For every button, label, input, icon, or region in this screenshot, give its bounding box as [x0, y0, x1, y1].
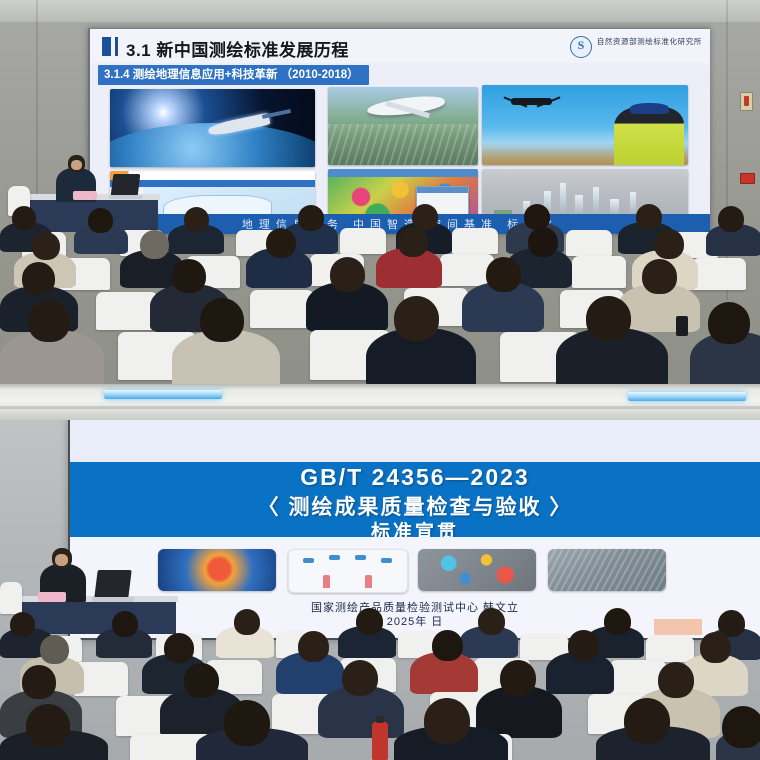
audience-head — [26, 704, 70, 748]
header-accent-block-icon — [102, 37, 111, 56]
chair-back — [692, 258, 746, 290]
audience-head — [184, 663, 219, 698]
thumbnail-classified-imagery — [418, 549, 536, 591]
presenter-laptop-lid-lower — [94, 570, 131, 598]
audience-head — [200, 298, 244, 342]
chair-back — [96, 292, 158, 330]
ground-station-icon — [323, 575, 330, 588]
drone-operator-figure — [614, 107, 684, 165]
audience-head — [224, 700, 270, 746]
slide-image-aircraft — [328, 87, 478, 165]
pink-folder-lower — [38, 592, 66, 602]
ceiling-strip-upper — [0, 0, 760, 22]
audience-head — [642, 259, 677, 294]
audience-head — [40, 635, 69, 664]
slide2-top-band — [70, 418, 760, 462]
projection-screen-upper: 3.1 新中国测绘标准发展历程 自然资源部测绘标准化研究所 3.1.4 测绘地理… — [88, 28, 710, 234]
audience-head — [478, 608, 505, 635]
chair-back — [566, 230, 612, 256]
audience-head — [12, 206, 36, 230]
audience-head — [330, 257, 365, 292]
operator-cap-icon — [630, 103, 669, 114]
audience-head — [32, 232, 60, 260]
building-block — [593, 187, 599, 217]
red-thermos-bottle — [372, 722, 388, 760]
aerial-cityscape — [328, 124, 478, 165]
slide-header-title: 3.1 新中国测绘标准发展历程 — [126, 36, 349, 61]
audience-head — [586, 296, 631, 341]
presenter-chair-lower — [0, 582, 22, 614]
satellite-node-icon — [355, 555, 366, 560]
audience-head — [298, 631, 329, 662]
audience-head — [412, 204, 438, 230]
ground-station-icon — [365, 575, 372, 588]
audience-head — [500, 660, 536, 696]
thumbnail-terrain-heatmap — [158, 549, 276, 591]
audience-head — [22, 665, 56, 699]
audience-head — [394, 296, 439, 341]
audience-head — [432, 630, 463, 661]
satellite-node-icon — [303, 558, 314, 563]
presenter-face-lower — [55, 554, 68, 566]
audience-head — [604, 608, 631, 635]
header-accent-line-icon — [115, 37, 118, 56]
chair-back — [340, 228, 386, 254]
audience-head — [140, 230, 169, 259]
audience-head — [342, 660, 378, 696]
audience-head — [10, 612, 35, 637]
audience-head — [356, 608, 383, 635]
chair-back — [646, 636, 694, 662]
slide-image-satellite — [110, 89, 315, 167]
audience-head — [298, 205, 324, 231]
chair-back — [572, 256, 626, 288]
slide2-title-standard-number: GB/T 24356—2023 — [70, 464, 760, 491]
audience-head — [718, 206, 744, 232]
audience-head — [398, 227, 428, 257]
chair-back — [250, 290, 314, 328]
audience-head — [164, 633, 194, 663]
presenter-face-upper — [71, 160, 82, 170]
bottom-camera-frame: GB/T 24356—2023 〈 测绘成果质量检查与验收 〉 标准宣贯 国家测… — [0, 404, 760, 760]
fire-alarm-icon — [740, 92, 753, 111]
audience-head — [172, 259, 206, 293]
slide-subsection-bar: 3.1.4 测绘地理信息应用+科技革新 （2010-2018） — [98, 65, 369, 85]
audience-head — [568, 630, 599, 661]
audience-head — [658, 662, 694, 698]
satellite-node-icon — [329, 555, 340, 560]
gis-titlebar — [328, 169, 478, 177]
audience-head — [88, 208, 113, 233]
pink-folder-upper — [73, 191, 97, 200]
exit-sign-icon — [740, 173, 755, 184]
audience-head — [112, 611, 138, 637]
building-block — [560, 183, 566, 217]
thumbnail-satellite-network — [288, 549, 408, 593]
slide-image-drone-operator — [482, 85, 688, 165]
solar-panel-icon — [262, 109, 291, 119]
audience-head — [22, 262, 55, 295]
top-camera-frame: 3.1 新中国测绘标准发展历程 自然资源部测绘标准化研究所 3.1.4 测绘地理… — [0, 0, 760, 392]
thumbnail-aerial-city — [548, 549, 666, 591]
slide2-orange-marker — [654, 619, 702, 635]
ceiling-light-strip — [104, 390, 222, 399]
presenter-laptop-base-lower — [92, 597, 134, 602]
audience-head — [636, 204, 662, 230]
audience-head — [424, 698, 470, 744]
ceiling-light-strip — [628, 392, 746, 401]
audience-head — [722, 706, 760, 748]
institute-name: 自然资源部测绘标准化研究所 — [597, 37, 702, 46]
platform-logo-bar — [110, 171, 315, 180]
audience-head — [654, 229, 684, 259]
audience-head — [28, 300, 70, 342]
band-shadow-line — [0, 406, 760, 409]
presenter-laptop-base-upper — [109, 195, 142, 199]
institute-logo-icon — [570, 36, 592, 58]
camera-frame-divider-band — [0, 384, 760, 420]
audience-head — [234, 609, 260, 635]
chair-back — [452, 228, 498, 254]
audience-head — [266, 228, 296, 258]
audience-head — [624, 698, 670, 744]
satellite-node-icon — [381, 558, 392, 563]
audience-head — [700, 632, 731, 663]
smartphone-icon — [676, 316, 688, 336]
audience-head — [486, 257, 521, 292]
screenshot-root: 3.1 新中国测绘标准发展历程 自然资源部测绘标准化研究所 3.1.4 测绘地理… — [0, 0, 760, 760]
presenter-laptop-lid-upper — [111, 174, 141, 196]
audience-head — [708, 302, 750, 344]
audience-head — [524, 204, 550, 230]
audience-head — [184, 207, 209, 232]
audience-head — [528, 227, 558, 257]
